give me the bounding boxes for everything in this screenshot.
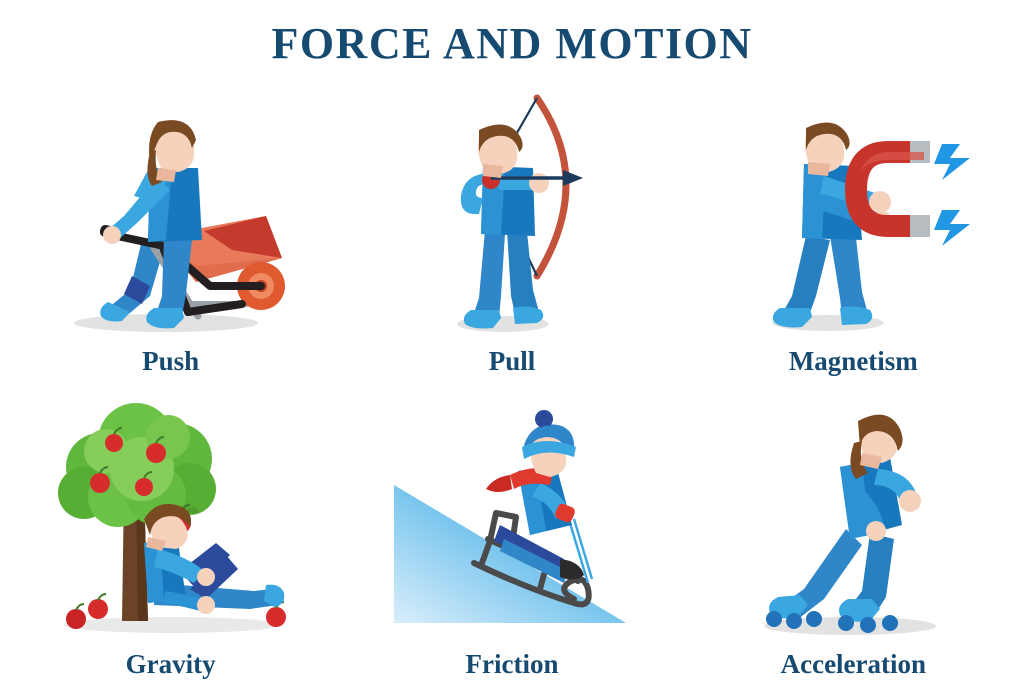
archer-drawing-bow-icon	[387, 90, 637, 340]
panel-magnetism[interactable]: Magnetism	[683, 88, 1024, 391]
panel-label-pull: Pull	[489, 340, 536, 391]
force-and-motion-poster: FORCE AND MOTION	[0, 0, 1024, 694]
person-under-apple-tree-icon	[40, 393, 302, 643]
panel-acceleration[interactable]: Acceleration	[683, 391, 1024, 694]
panel-friction[interactable]: Friction	[341, 391, 682, 694]
roller-skater-icon	[738, 393, 968, 643]
gravity-illustration	[0, 391, 341, 643]
person-pushing-wheelbarrow-icon	[46, 90, 296, 340]
panel-push[interactable]: Push	[0, 88, 341, 391]
panel-gravity[interactable]: Gravity	[0, 391, 341, 694]
person-holding-horseshoe-magnet-icon	[728, 90, 978, 340]
magnetism-illustration	[683, 88, 1024, 340]
acceleration-illustration	[683, 391, 1024, 643]
page-title: FORCE AND MOTION	[0, 18, 1024, 69]
panel-label-friction: Friction	[466, 643, 559, 694]
panel-pull[interactable]: Pull	[341, 88, 682, 391]
panel-label-push: Push	[142, 340, 199, 391]
push-illustration	[0, 88, 341, 340]
friction-illustration	[341, 391, 682, 643]
concept-grid: Push	[0, 88, 1024, 694]
panel-label-magnetism: Magnetism	[789, 340, 918, 391]
panel-label-gravity: Gravity	[126, 643, 216, 694]
pull-illustration	[341, 88, 682, 340]
panel-label-acceleration: Acceleration	[781, 643, 926, 694]
child-sledding-down-slope-icon	[378, 413, 646, 643]
